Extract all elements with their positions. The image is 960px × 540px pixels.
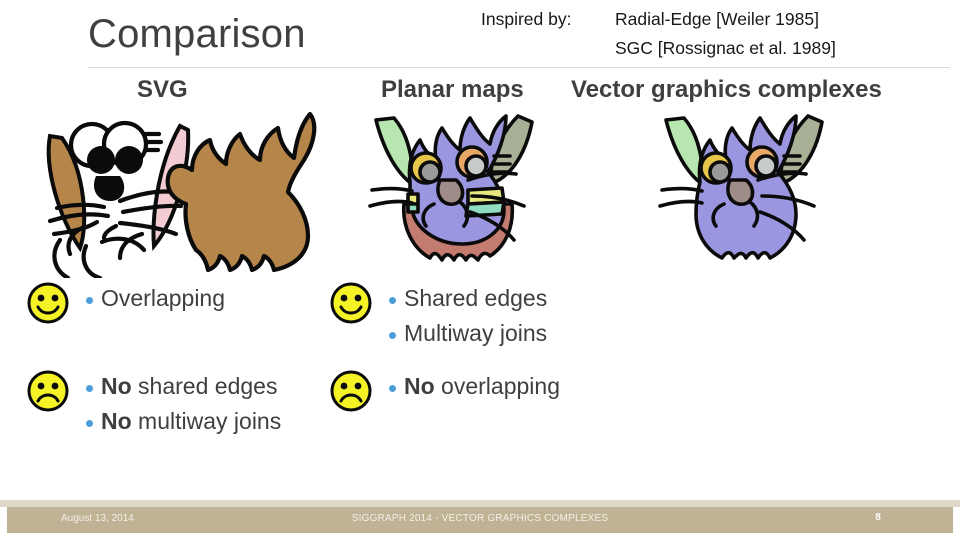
list-item-emphasis: No bbox=[404, 373, 435, 399]
footer-top-strip bbox=[0, 500, 960, 507]
footer-title: SIGGRAPH 2014 - VECTOR GRAPHICS COMPLEXE… bbox=[0, 513, 960, 524]
bullet-dot-icon bbox=[389, 297, 396, 304]
title-divider bbox=[88, 67, 950, 68]
bullet-dot-icon bbox=[86, 297, 93, 304]
list-item: Overlapping bbox=[86, 281, 225, 316]
pros-list-svg: Overlapping bbox=[86, 281, 225, 316]
illustration-planar-map-cat-face bbox=[368, 108, 558, 273]
cons-list-planar-maps: No overlapping bbox=[389, 369, 560, 404]
list-item: No overlapping bbox=[389, 369, 560, 404]
list-item-label: Shared edges bbox=[404, 285, 547, 311]
list-item: Multiway joins bbox=[389, 316, 547, 351]
illustration-exploded-cat-face bbox=[24, 108, 324, 278]
list-item: No shared edges bbox=[86, 369, 281, 404]
column-heading-svg: SVG bbox=[137, 76, 188, 104]
list-item-emphasis: No bbox=[101, 408, 132, 434]
list-item-label: Overlapping bbox=[101, 285, 225, 311]
bullet-dot-icon bbox=[86, 420, 93, 427]
illustration-vgc-cat-face bbox=[658, 108, 848, 273]
bullet-dot-icon bbox=[389, 332, 396, 339]
smiley-sad-face-icon bbox=[329, 369, 373, 413]
bullet-dot-icon bbox=[86, 385, 93, 392]
page-title: Comparison bbox=[88, 10, 306, 58]
slide-canvas: Comparison Inspired by: Radial-Edge [Wei… bbox=[0, 0, 960, 540]
list-item-emphasis: No bbox=[101, 373, 132, 399]
list-item-label: multiway joins bbox=[132, 408, 282, 434]
smiley-happy-face-icon bbox=[26, 281, 70, 325]
smiley-sad-face-icon bbox=[26, 369, 70, 413]
smiley-happy-face-icon bbox=[329, 281, 373, 325]
cons-list-svg: No shared edges No multiway joins bbox=[86, 369, 281, 439]
list-item: Shared edges bbox=[389, 281, 547, 316]
inspired-by-label: Inspired by: bbox=[481, 5, 571, 34]
list-item: No multiway joins bbox=[86, 404, 281, 439]
column-heading-vector-graphics-complexes: Vector graphics complexes bbox=[571, 76, 882, 104]
reference-sgc: SGC [Rossignac et al. 1989] bbox=[615, 34, 836, 63]
list-item-label: overlapping bbox=[435, 373, 560, 399]
reference-radial-edge: Radial-Edge [Weiler 1985] bbox=[615, 5, 836, 34]
footer-page-number: 8 bbox=[866, 512, 890, 523]
column-heading-planar-maps: Planar maps bbox=[381, 76, 524, 104]
list-item-label: shared edges bbox=[132, 373, 278, 399]
pros-list-planar-maps: Shared edges Multiway joins bbox=[389, 281, 547, 351]
list-item-label: Multiway joins bbox=[404, 320, 547, 346]
inspired-by-references: Radial-Edge [Weiler 1985] SGC [Rossignac… bbox=[615, 5, 836, 63]
bullet-dot-icon bbox=[389, 385, 396, 392]
